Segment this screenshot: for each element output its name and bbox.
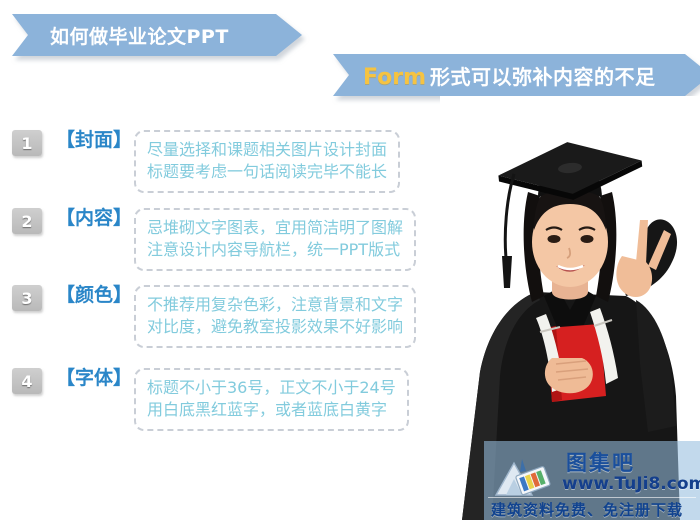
subtitle-banner-content: Form形式可以弥补内容的不足 [363, 61, 656, 90]
tuji8-logo-icon [492, 455, 554, 499]
title-banner: 如何做毕业论文PPT [12, 14, 302, 56]
item-number-badge: 3 [12, 285, 42, 311]
subtitle-banner-label: 形式可以弥补内容的不足 [430, 65, 656, 89]
item-note-line: 标题不小于36号，正文不小于24号 [147, 377, 396, 399]
item-note-box: 标题不小于36号，正文不小于24号 用白底黑红蓝字，或者蓝底白黄字 [134, 368, 409, 431]
item-note-line: 尽量选择和课题相关图片设计封面 [147, 139, 387, 161]
subtitle-banner: Form形式可以弥补内容的不足 [333, 54, 700, 96]
item-label: 【颜色】 [56, 285, 128, 306]
list-item: 4 【字体】 标题不小于36号，正文不小于24号 用白底黑红蓝字，或者蓝底白黄字 [12, 368, 409, 431]
watermark-url[interactable]: www.TuJi8.com [562, 474, 700, 494]
item-note-line: 标题要考虑一句话阅读完毕不能长 [147, 161, 387, 183]
item-note-box: 不推荐用复杂色彩，注意背景和文字 对比度，避免教室投影效果不好影响 [134, 285, 416, 348]
watermark-tagline: 建筑资料免费、免注册下载 [491, 499, 683, 520]
item-note-line: 用白底黑红蓝字，或者蓝底白黄字 [147, 399, 396, 421]
item-number-badge: 1 [12, 130, 42, 156]
item-note-line: 忌堆砌文字图表，宜用简洁明了图解 [147, 217, 403, 239]
item-label: 【封面】 [56, 130, 128, 151]
item-note-line: 注意设计内容导航栏，统一PPT版式 [147, 239, 403, 261]
item-number-badge: 2 [12, 208, 42, 234]
list-item: 2 【内容】 忌堆砌文字图表，宜用简洁明了图解 注意设计内容导航栏，统一PPT版… [12, 208, 416, 271]
item-note-box: 忌堆砌文字图表，宜用简洁明了图解 注意设计内容导航栏，统一PPT版式 [134, 208, 416, 271]
watermark-divider [488, 497, 696, 498]
watermark-panel: 图集吧 www.TuJi8.com 建筑资料免费、免注册下载 [484, 441, 700, 520]
item-number-badge: 4 [12, 368, 42, 394]
title-banner-label: 如何做毕业论文PPT [50, 22, 229, 49]
item-note-line: 对比度，避免教室投影效果不好影响 [147, 316, 403, 338]
item-note-line: 不推荐用复杂色彩，注意背景和文字 [147, 294, 403, 316]
slide-canvas: 如何做毕业论文PPT Form形式可以弥补内容的不足 1 【封面】 尽量选择和课… [0, 0, 700, 520]
item-label: 【字体】 [56, 368, 128, 389]
list-item: 3 【颜色】 不推荐用复杂色彩，注意背景和文字 对比度，避免教室投影效果不好影响 [12, 285, 416, 348]
item-note-box: 尽量选择和课题相关图片设计封面 标题要考虑一句话阅读完毕不能长 [134, 130, 400, 193]
list-item: 1 【封面】 尽量选择和课题相关图片设计封面 标题要考虑一句话阅读完毕不能长 [12, 130, 400, 193]
item-label: 【内容】 [56, 208, 128, 229]
watermark-site-name: 图集吧 [566, 447, 635, 477]
subtitle-highlight-word: Form [363, 65, 426, 90]
